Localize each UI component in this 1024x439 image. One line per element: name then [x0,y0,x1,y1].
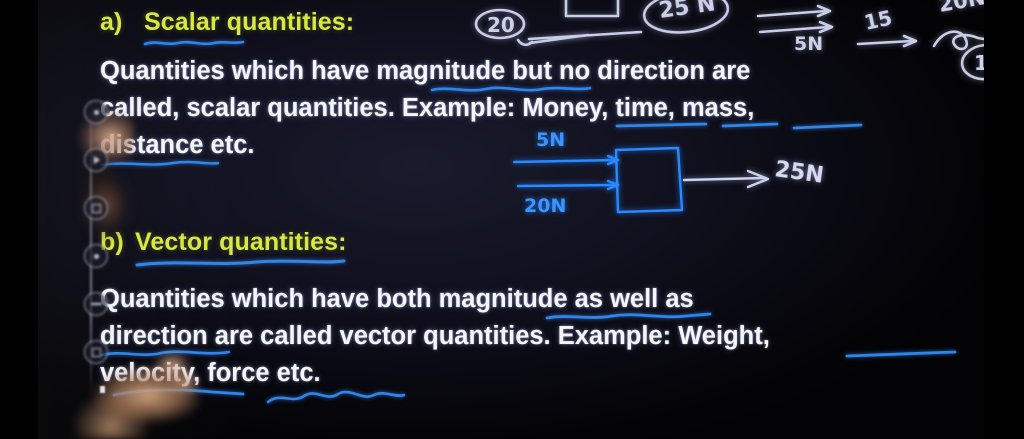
whiteboard-slide: a) Scalar quantities: Quantities which h… [38,0,984,439]
section-a-line1: Quantities which have magnitude but no d… [100,57,750,86]
section-a-line2: called, scalar quantities. Example: Mone… [100,94,754,123]
annotation-15-arrow: 15 [856,4,946,56]
annotation-small-box [558,0,628,26]
annotation-squiggle [928,18,984,60]
annotation-20n-top: 20N [936,0,984,30]
annotation-circled-25n: 25 N [638,0,748,36]
underline-distance [101,159,219,169]
minus-icon[interactable] [84,292,108,316]
annotation-10-text: 10 [974,51,984,75]
underline-force-etc [266,388,406,408]
annotation-circled-20: 20 [470,2,590,50]
section-b-line3: velocity, force etc. [100,359,321,388]
annotation-20-text: 20 [487,13,515,37]
section-a-line3: distance etc. [100,131,254,160]
video-frame: a) Scalar quantities: Quantities which h… [0,0,1024,439]
left-toolbar[interactable] [79,100,113,364]
pen-icon[interactable] [84,148,108,172]
label-5n: 5N [536,129,565,151]
letterbox-right [984,0,1024,439]
layers-icon[interactable] [84,340,108,364]
annotation-underline-long [528,30,642,42]
letterbox-left [0,0,38,439]
annotation-5n-text: 5N [794,33,823,55]
underline-weight [846,350,956,360]
section-b-line2: direction are called vector quantities. … [100,322,770,351]
section-a-heading: Scalar quantities: [144,8,354,37]
record-icon[interactable] [84,100,108,124]
label-25n: 25N [773,157,825,189]
cursor-indicator [100,386,105,393]
section-b-line1: Quantities which have both magnitude as … [100,285,694,314]
force-diagram: 5N 20N [510,130,710,225]
resultant-arrow: 25N [682,158,832,208]
annotation-5n-double-arrow: 5N [756,2,866,54]
underline-vector-quantities [136,257,346,269]
eraser-icon[interactable] [84,196,108,220]
annotation-20n-text: 20N [937,0,984,17]
annotation-circled-10: 10 [958,40,984,88]
underline-scalar [144,37,244,49]
annotation-15-text: 15 [862,6,894,35]
section-a-marker: a) [100,8,122,37]
annotation-25n-text: 25 N [657,0,717,24]
label-20n: 20N [524,195,566,217]
globe-icon[interactable] [84,244,108,268]
section-b-heading: Vector quantities: [135,228,347,257]
underline-mass [793,123,862,132]
